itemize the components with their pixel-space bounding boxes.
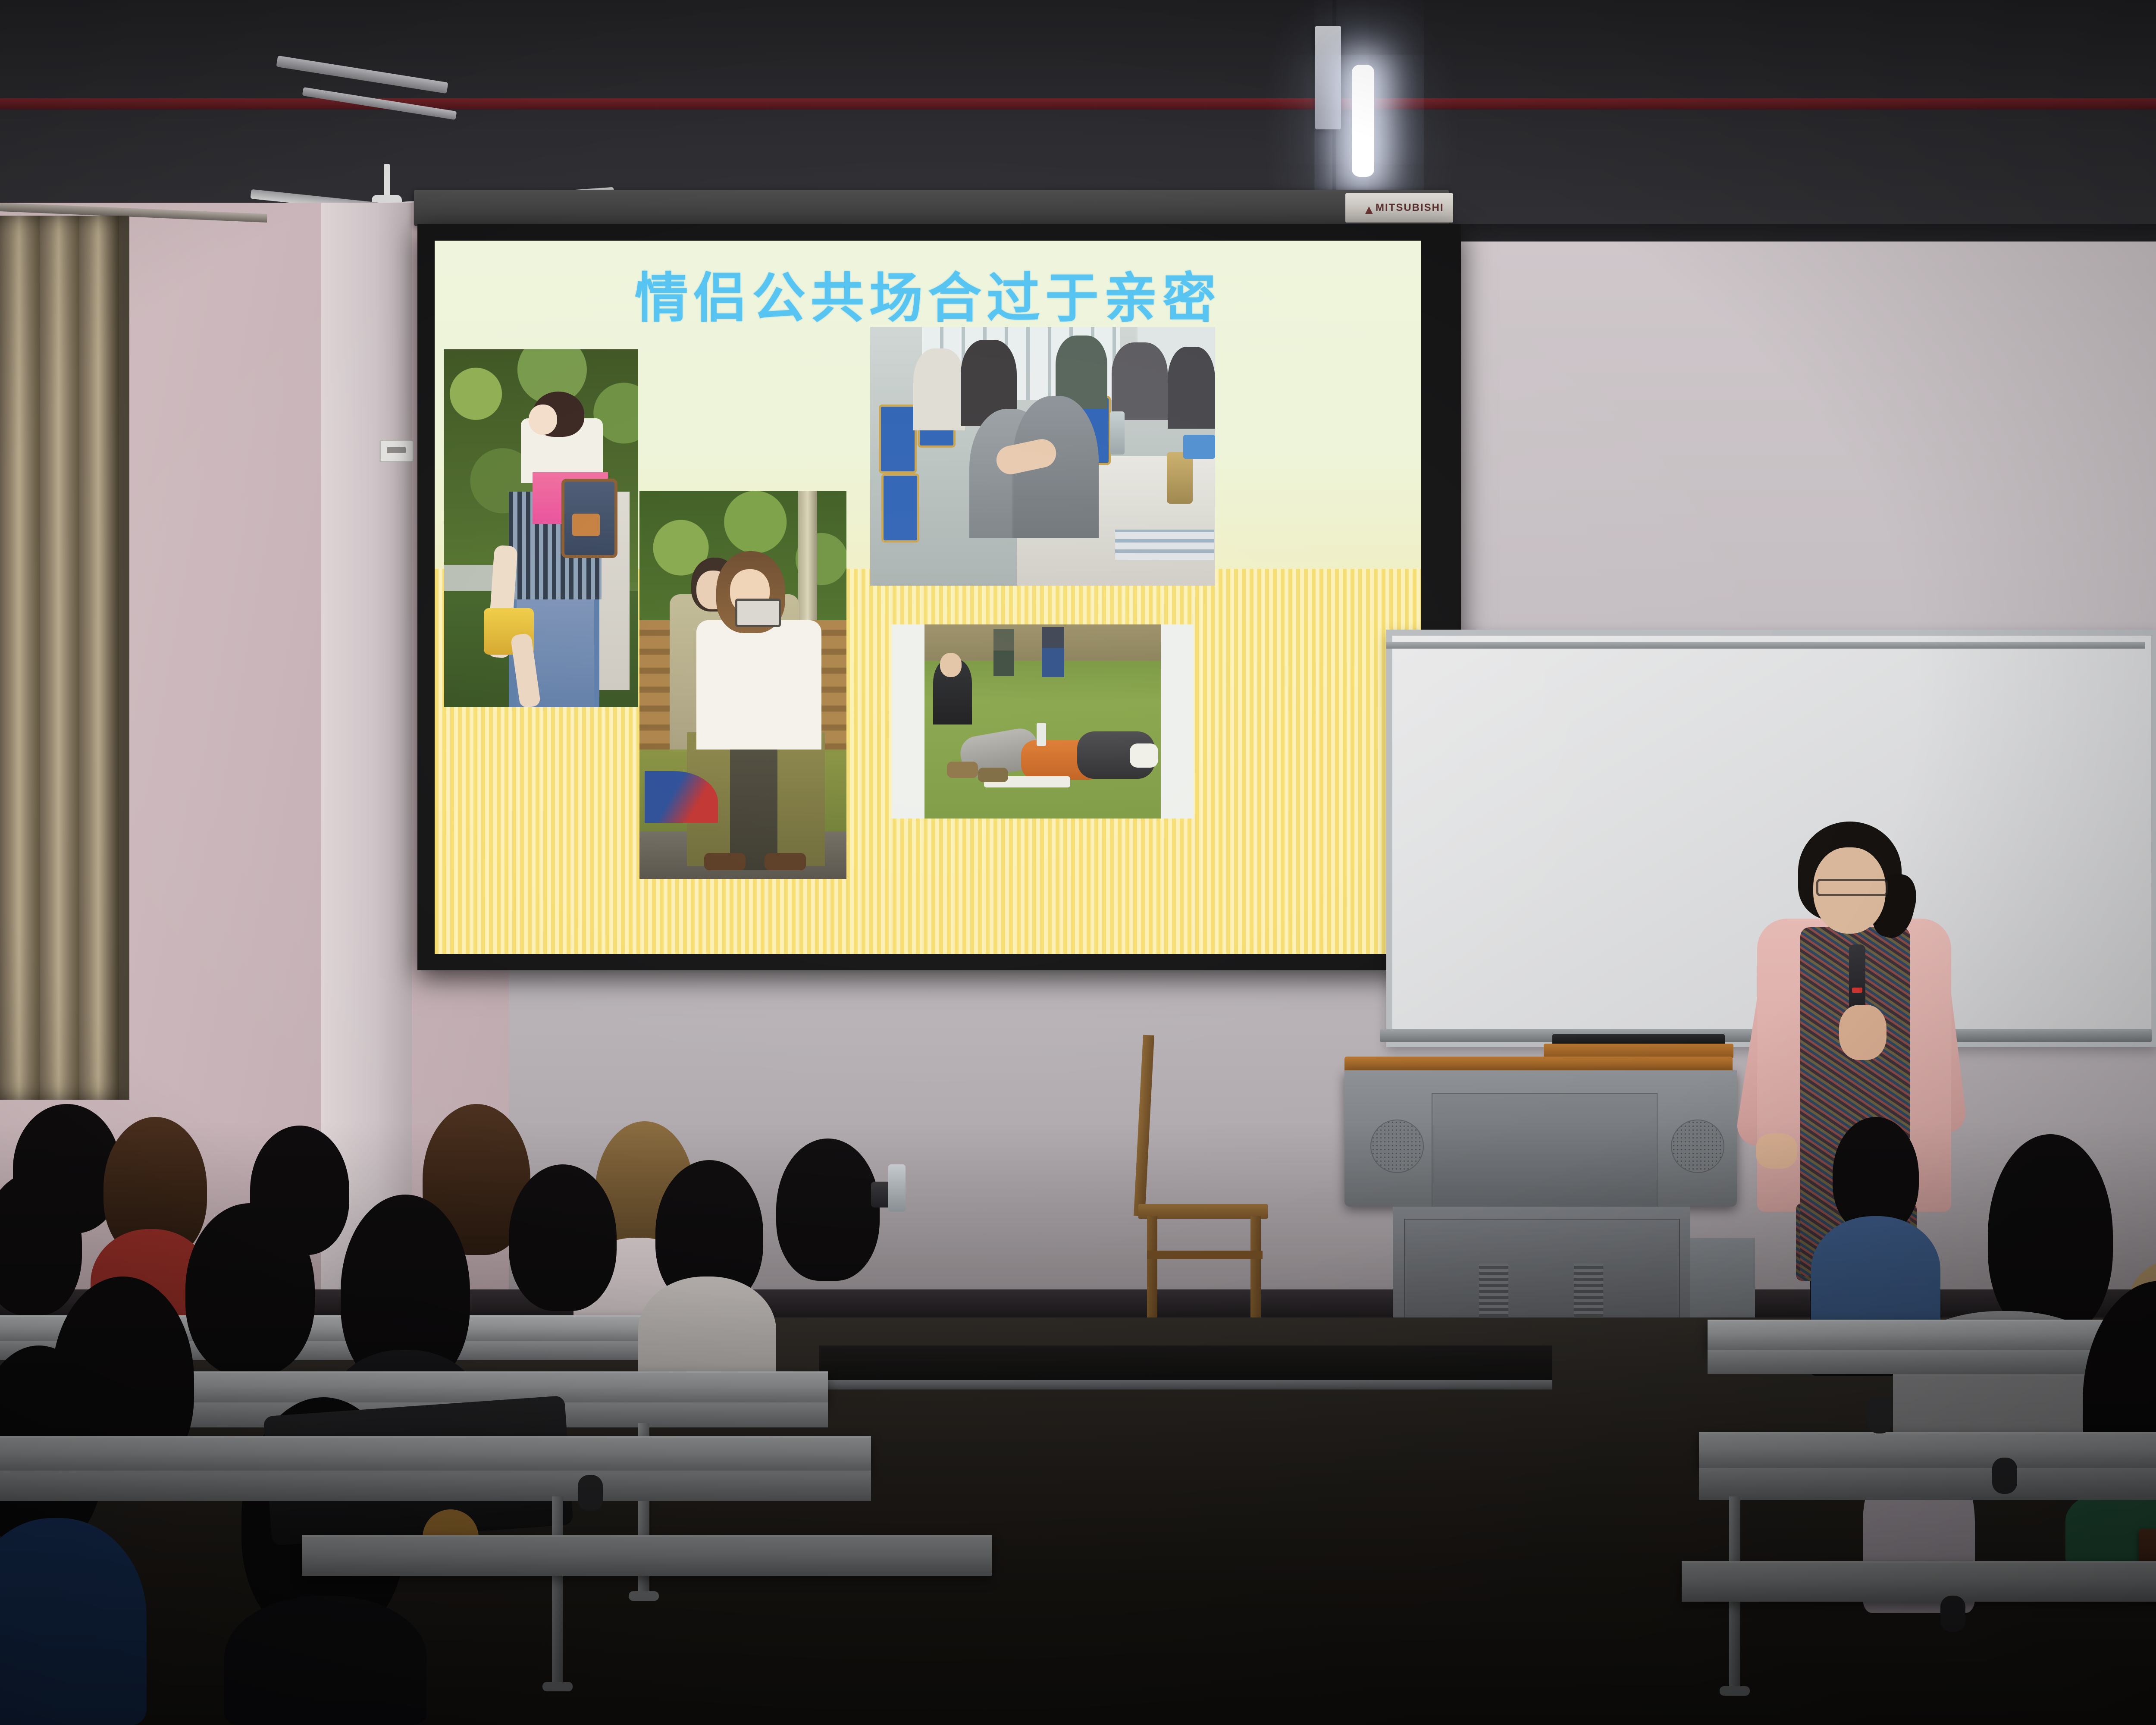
photo4-sitting-person-head: [940, 653, 962, 677]
classroom-photo: ▲ MITSUBISHI 情侣公共场合过于亲密: [0, 0, 2156, 1725]
photo3-student-5: [1168, 347, 1215, 429]
photo2-tree-trunk: [798, 491, 817, 633]
desk-row: [302, 1535, 992, 1576]
photo3-chair-2: [881, 474, 919, 543]
chair-seat[interactable]: [1138, 1204, 1268, 1219]
slide-background: 情侣公共场合过于亲密: [435, 241, 1421, 954]
mitsubishi-logo-icon: ▲: [1363, 203, 1376, 217]
photo3-book-stack: [1115, 530, 1214, 560]
slide-photo-piggyback-couple: [444, 349, 638, 707]
wall-light-switch[interactable]: [379, 440, 414, 462]
photo4-standing-person-2: [1042, 627, 1064, 677]
desk-leg: [552, 1496, 563, 1686]
wall-pillar: [321, 203, 412, 1307]
presenter-glasses-icon: [1816, 879, 1888, 896]
desk-row: [0, 1436, 871, 1472]
slide-photo-couple-study-hall: [870, 327, 1215, 586]
podium-speaker-right: [1671, 1120, 1724, 1173]
photo4-bottle: [1037, 723, 1046, 746]
chair-back-knob: [1992, 1458, 2017, 1494]
photo3-student-4: [1112, 342, 1168, 420]
desk-front-panel: [1699, 1468, 2156, 1500]
projector-screen-brand: MITSUBISHI: [1376, 202, 1444, 214]
desk-row: [1699, 1432, 2156, 1470]
student-head: [185, 1203, 315, 1376]
photo2-shoe: [704, 853, 746, 870]
photo4-lying-person-white: [1130, 743, 1158, 768]
photo3-student: [913, 348, 965, 430]
podium-desk-extension: [1544, 1044, 1733, 1058]
photo3-jar: [1167, 452, 1193, 504]
window-curtain: [0, 216, 129, 1100]
slide-photo-couple-on-lawn: [892, 624, 1194, 819]
fluorescent-tube-lit-center: [1352, 65, 1374, 177]
student-head: [1988, 1134, 2113, 1337]
projector-screen-case: [414, 190, 1449, 226]
photo4-shoe: [947, 762, 978, 778]
ceiling-pipe: [0, 98, 2156, 110]
microphone-led-icon: [1852, 988, 1862, 993]
desk-row: [1708, 1320, 2156, 1352]
presenter-right-hand: [1839, 1005, 1887, 1060]
photo4-shoe-2: [978, 768, 1008, 782]
desk-foot: [1720, 1686, 1750, 1696]
photo3-chair: [879, 405, 917, 474]
water-bottle: [888, 1164, 906, 1212]
ceiling-fan-rod-left: [384, 164, 390, 198]
projection-screen: 情侣公共场合过于亲密: [417, 224, 1461, 970]
desk-row: [1682, 1561, 2156, 1602]
desk-foot: [629, 1591, 659, 1601]
slide-title: 情侣公共场合过于亲密: [435, 272, 1421, 325]
photo3-blue-container: [1183, 435, 1215, 459]
chair-back-knob: [1940, 1596, 1965, 1632]
podium-front-panel: [1432, 1093, 1658, 1207]
photo3-bottle: [1110, 411, 1125, 455]
light-fixture-housing-center: [1315, 26, 1341, 129]
photo2-woman-top: [696, 620, 821, 750]
photo2-phone: [735, 599, 781, 627]
chair-stretcher: [1147, 1251, 1263, 1259]
student-head: [509, 1164, 617, 1311]
photo2-shoe-2: [765, 853, 806, 870]
stage-platform-edge: [819, 1380, 1552, 1389]
desk-front-panel: [0, 1471, 871, 1501]
student-body: [224, 1596, 427, 1725]
photo1-woman-face: [529, 405, 557, 435]
podium-wooden-top: [1344, 1057, 1733, 1071]
student-body: [1811, 1216, 1940, 1328]
stage-platform-face: [819, 1345, 1552, 1381]
presenter-left-hand: [1756, 1133, 1797, 1169]
photo4-standing-person: [993, 629, 1014, 676]
student-head: [776, 1138, 880, 1281]
chair-back-knob: [1867, 1397, 1892, 1433]
photo1-backpack: [561, 479, 617, 558]
chair-back-knob: [578, 1475, 603, 1511]
whiteboard-top-rail: [1386, 642, 2145, 649]
photo2-woman-pants: [730, 745, 777, 870]
slide-photo-couple-on-bench: [639, 491, 846, 879]
podium-speaker-left: [1370, 1120, 1424, 1173]
projected-slide: 情侣公共场合过于亲密: [435, 241, 1421, 954]
desk-foot: [542, 1682, 573, 1691]
